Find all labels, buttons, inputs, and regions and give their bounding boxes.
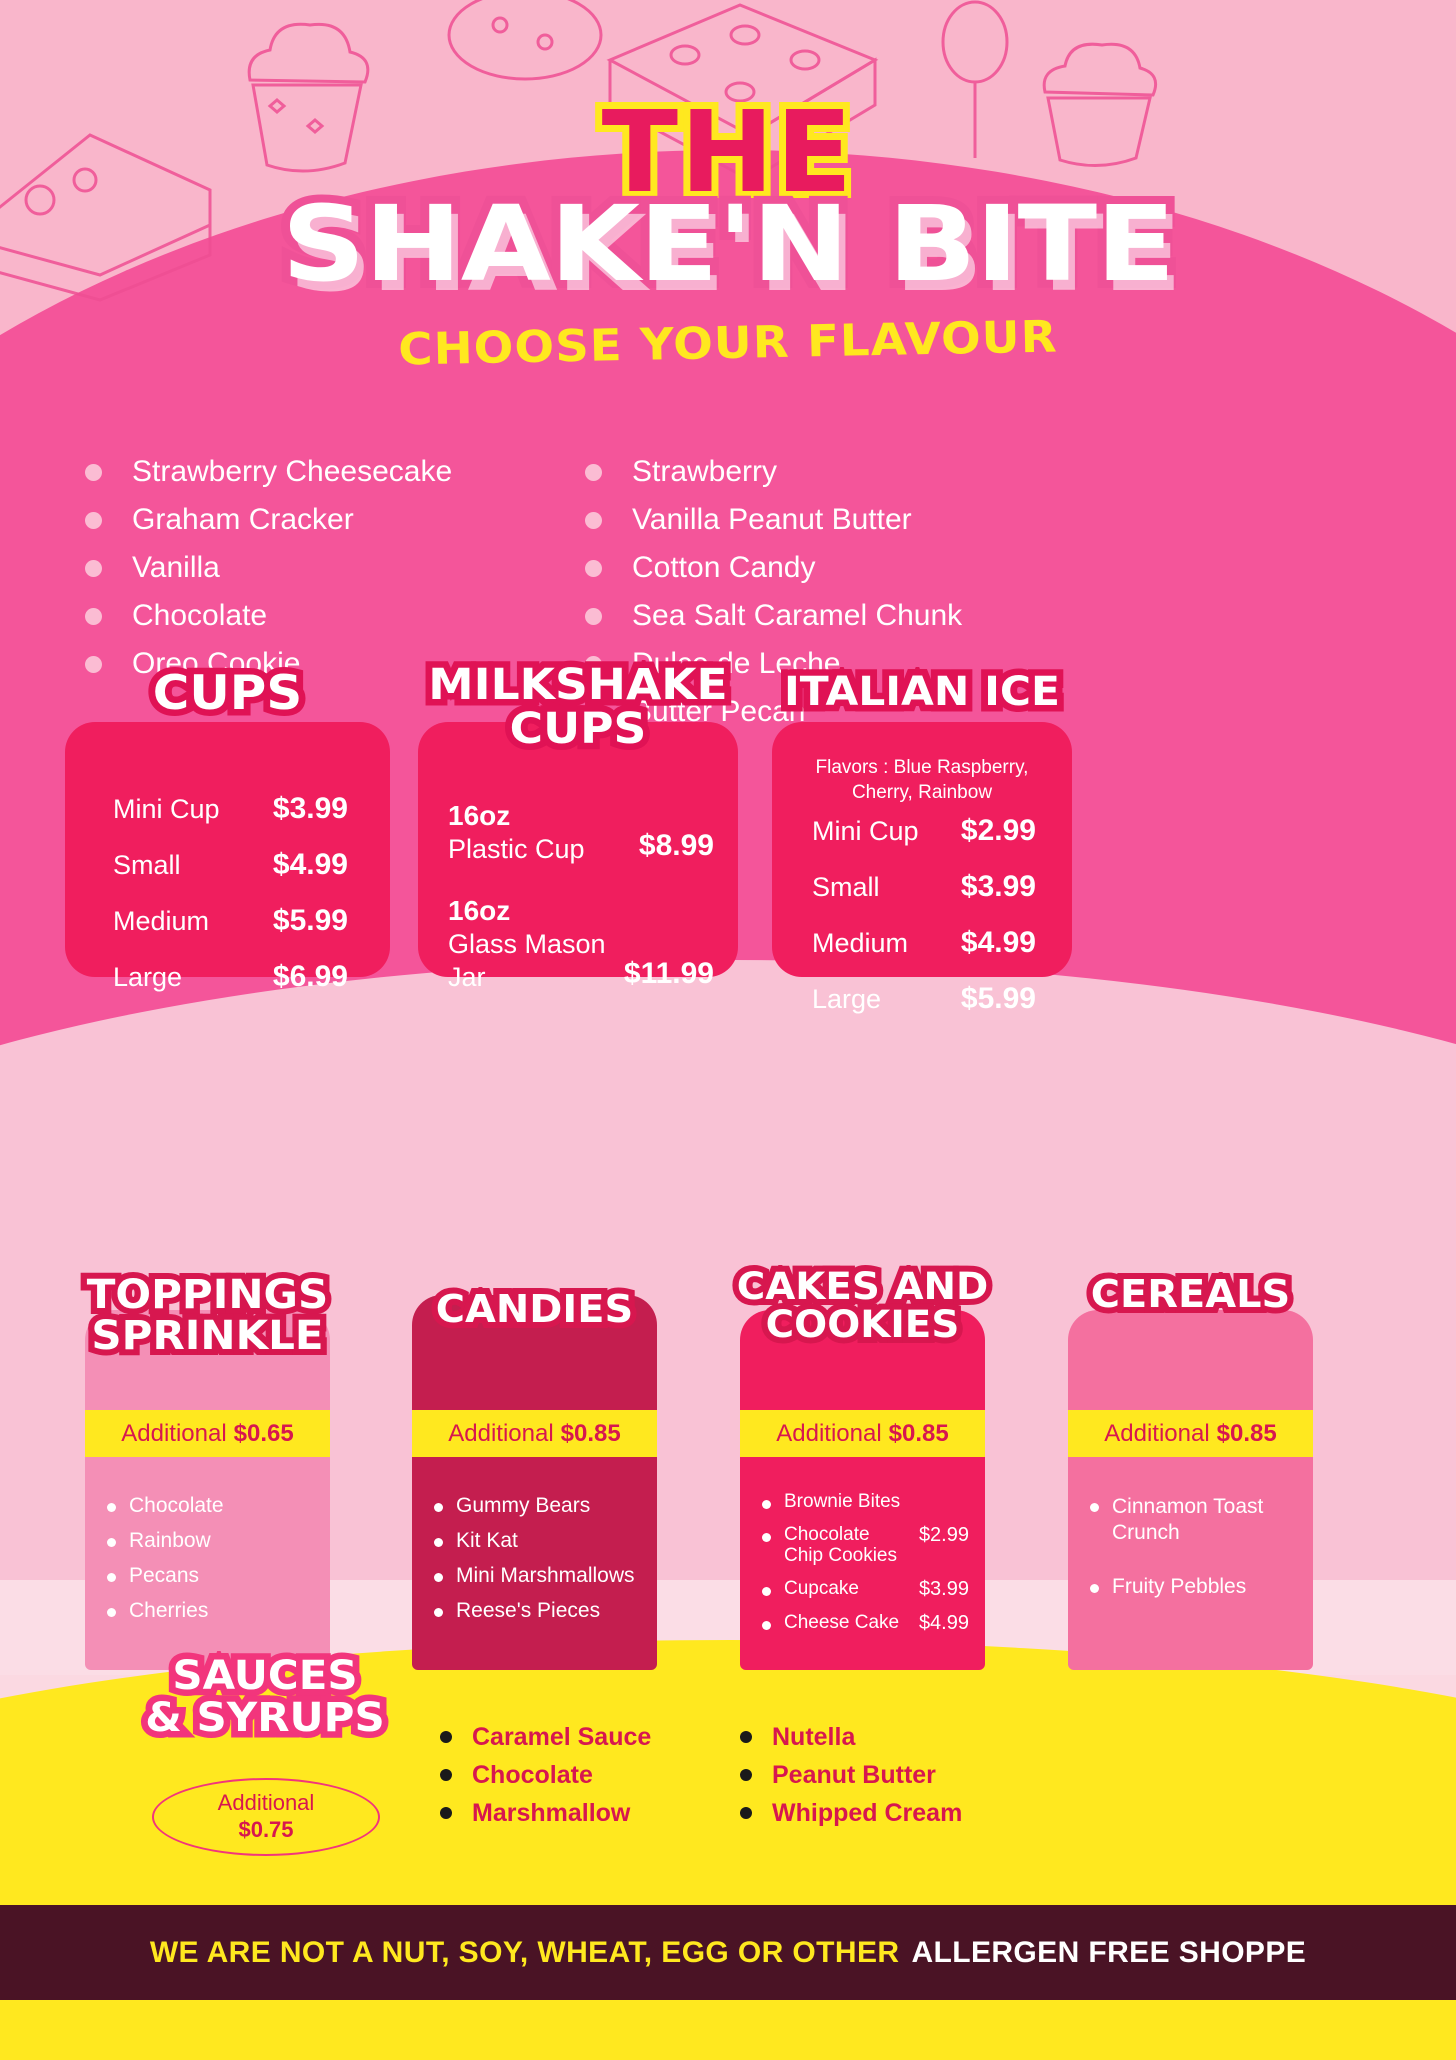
item-label: Cupcake — [784, 1578, 859, 1600]
cakes-list: Brownie Bites Chocolate Chip Cookies$2.9… — [740, 1465, 985, 1646]
bullet-icon — [585, 464, 602, 481]
sauce-label: Caramel Sauce — [472, 1723, 651, 1752]
list-item: Chocolate Chip Cookies$2.99 — [762, 1524, 969, 1567]
item-label: Reese's Pieces — [456, 1599, 600, 1623]
flavour-label: Graham Cracker — [132, 503, 354, 537]
price-value: $11.99 — [624, 957, 714, 993]
item-label: Chocolate — [129, 1494, 224, 1518]
bullet-icon — [740, 1807, 752, 1819]
additional-label: Additional — [776, 1420, 881, 1448]
price-row: Small$3.99 — [812, 870, 1036, 904]
size-label: Medium — [113, 906, 209, 937]
italian-ice-flavors-note: Flavors : Blue Raspberry, Cherry, Rainbo… — [786, 756, 1058, 805]
item-label: Chocolate Chip Cookies — [784, 1524, 904, 1567]
additional-price: $0.85 — [1217, 1420, 1277, 1448]
additional-price: $0.75 — [238, 1817, 293, 1844]
brand-title: SHAKE'N BITE — [0, 192, 1456, 296]
list-item: Mini Marshmallows — [434, 1564, 641, 1588]
bullet-icon — [762, 1621, 771, 1630]
cakes-cookies-card: Additional$0.85 Brownie Bites Chocolate … — [740, 1310, 985, 1670]
item-label: Gummy Bears — [456, 1494, 590, 1518]
item-label: Pecans — [129, 1564, 199, 1588]
additional-price: $0.85 — [561, 1420, 621, 1448]
bullet-icon — [1090, 1584, 1099, 1593]
list-item: Brownie Bites — [762, 1491, 969, 1513]
price-row: Medium$4.99 — [812, 926, 1036, 960]
price-row: Large$5.99 — [812, 982, 1036, 1016]
list-item: Kit Kat — [434, 1529, 641, 1553]
bullet-icon — [440, 1769, 452, 1781]
flavour-label: Cotton Candy — [632, 551, 815, 585]
size-label: 16oz — [448, 893, 624, 928]
item-label: Kit Kat — [456, 1529, 518, 1553]
bullet-icon — [85, 512, 102, 529]
item-label: Cheese Cake — [784, 1612, 899, 1634]
item-price: $2.99 — [911, 1524, 969, 1547]
allergen-text-secondary: ALLERGEN FREE SHOPPE — [911, 1936, 1306, 1970]
bullet-icon — [762, 1500, 771, 1509]
list-item: Cherries — [107, 1599, 314, 1623]
flavour-item: Chocolate — [85, 592, 555, 640]
price-value: $3.99 — [961, 870, 1036, 904]
italian-ice-card-title: ITALIAN ICE — [763, 672, 1081, 713]
sauces-lists: Caramel Sauce Chocolate Marshmallow Nute… — [440, 1718, 1040, 1832]
toppings-list: Chocolate Rainbow Pecans Cherries — [85, 1468, 330, 1634]
price-row: Mini Cup$3.99 — [113, 792, 348, 826]
sauces-title-line1: SAUCES — [144, 1655, 386, 1697]
price-value: $8.99 — [639, 829, 714, 865]
sauce-label: Chocolate — [472, 1761, 593, 1790]
bullet-icon — [585, 512, 602, 529]
candies-additional-band: Additional$0.85 — [412, 1410, 657, 1457]
item-price: $4.99 — [911, 1612, 969, 1635]
bullet-icon — [740, 1769, 752, 1781]
container-label: Plastic Cup — [448, 833, 585, 865]
price-value: $4.99 — [961, 926, 1036, 960]
price-row: 16oz Glass Mason Jar $11.99 — [448, 893, 714, 993]
flavour-label: Vanilla — [132, 551, 220, 585]
bullet-icon — [585, 560, 602, 577]
price-row: Medium$5.99 — [113, 904, 348, 938]
sauce-label: Peanut Butter — [772, 1761, 936, 1790]
price-row: Large$6.99 — [113, 960, 348, 994]
poster-header: THE SHAKE'N BITE CHOOSE YOUR FLAVOUR — [0, 0, 1456, 369]
item-label: Fruity Pebbles — [1112, 1575, 1246, 1599]
bullet-icon — [107, 1573, 116, 1582]
cereals-card: Additional$0.85 Cinnamon Toast Crunch Fr… — [1068, 1310, 1313, 1670]
sauce-label: Marshmallow — [472, 1799, 630, 1828]
additional-label: Additional — [1104, 1420, 1209, 1448]
cereals-card-title: CEREALS — [1043, 1275, 1338, 1314]
toppings-additional-band: Additional$0.65 — [85, 1410, 330, 1457]
price-value: $5.99 — [961, 982, 1036, 1016]
price-row: Mini Cup$2.99 — [812, 814, 1036, 848]
bullet-icon — [85, 464, 102, 481]
cereals-additional-band: Additional$0.85 — [1068, 1410, 1313, 1457]
italian-ice-price-card: ITALIAN ICE Flavors : Blue Raspberry, Ch… — [772, 722, 1072, 977]
candies-list: Gummy Bears Kit Kat Mini Marshmallows Re… — [412, 1468, 657, 1634]
bullet-icon — [762, 1587, 771, 1596]
flavour-label: Strawberry Cheesecake — [132, 455, 452, 489]
sauces-column-right: Nutella Peanut Butter Whipped Cream — [740, 1718, 1040, 1832]
item-label: Brownie Bites — [784, 1491, 900, 1513]
milkshake-desc: 16oz Glass Mason Jar — [448, 893, 624, 993]
milkshake-card-title: MILKSHAKE CUPS — [408, 664, 747, 752]
size-label: Small — [812, 872, 880, 903]
flavour-label: Chocolate — [132, 599, 267, 633]
bullet-icon — [434, 1538, 443, 1547]
flavour-item: Strawberry — [585, 448, 1025, 496]
bullet-icon — [762, 1533, 771, 1542]
list-item: Chocolate — [107, 1494, 314, 1518]
cereals-list: Cinnamon Toast Crunch Fruity Pebbles — [1068, 1468, 1313, 1610]
flavour-item: Vanilla Peanut Butter — [585, 496, 1025, 544]
toppings-card: Additional$0.65 Chocolate Rainbow Pecans… — [85, 1310, 330, 1670]
sauce-item: Whipped Cream — [740, 1794, 1040, 1832]
size-label: Large — [812, 984, 881, 1015]
price-value: $3.99 — [273, 792, 348, 826]
bullet-icon — [107, 1538, 116, 1547]
candies-card-title: CANDIES — [387, 1290, 682, 1329]
additional-label: Additional — [121, 1420, 226, 1448]
milkshake-price-card: MILKSHAKE CUPS 16oz Plastic Cup $8.99 16… — [418, 722, 738, 977]
item-label: Mini Marshmallows — [456, 1564, 635, 1588]
bullet-icon — [1090, 1503, 1099, 1512]
sauces-title-line2: & SYRUPS — [144, 1697, 386, 1739]
list-item: Pecans — [107, 1564, 314, 1588]
sauces-column-left: Caramel Sauce Chocolate Marshmallow — [440, 1718, 740, 1832]
flavour-label: Sea Salt Caramel Chunk — [632, 599, 962, 633]
price-value: $2.99 — [961, 814, 1036, 848]
price-row: Small$4.99 — [113, 848, 348, 882]
bullet-icon — [85, 560, 102, 577]
milkshake-rows: 16oz Plastic Cup $8.99 16oz Glass Mason … — [448, 798, 714, 1021]
sauce-item: Caramel Sauce — [440, 1718, 740, 1756]
allergen-text-primary: WE ARE NOT A NUT, SOY, WHEAT, EGG OR OTH… — [150, 1936, 900, 1970]
bullet-icon — [434, 1503, 443, 1512]
sauce-item: Marshmallow — [440, 1794, 740, 1832]
flavour-item: Sea Salt Caramel Chunk — [585, 592, 1025, 640]
additional-price: $0.65 — [234, 1420, 294, 1448]
flavour-label: Vanilla Peanut Butter — [632, 503, 912, 537]
container-label: Glass Mason Jar — [448, 928, 624, 993]
flavour-label: Strawberry — [632, 455, 777, 489]
additional-label: Additional — [218, 1790, 315, 1817]
flavour-item: Cotton Candy — [585, 544, 1025, 592]
flavour-item: Graham Cracker — [85, 496, 555, 544]
sauce-label: Whipped Cream — [772, 1799, 962, 1828]
size-label: Mini Cup — [113, 794, 220, 825]
size-label: Mini Cup — [812, 816, 919, 847]
list-item: Cinnamon Toast Crunch — [1090, 1494, 1297, 1547]
item-label: Cherries — [129, 1599, 208, 1623]
cakes-cookies-card-title: CAKES AND COOKIES — [715, 1268, 1010, 1343]
list-item: Cupcake$3.99 — [762, 1578, 969, 1601]
bullet-icon — [440, 1807, 452, 1819]
flavour-item: Strawberry Cheesecake — [85, 448, 555, 496]
bullet-icon — [585, 608, 602, 625]
list-item: Gummy Bears — [434, 1494, 641, 1518]
list-item: Reese's Pieces — [434, 1599, 641, 1623]
bullet-icon — [107, 1503, 116, 1512]
flavour-item: Vanilla — [85, 544, 555, 592]
price-value: $4.99 — [273, 848, 348, 882]
size-label: Small — [113, 850, 181, 881]
toppings-card-title: TOPPINGS SPRINKLE — [60, 1275, 355, 1357]
milkshake-desc: 16oz Plastic Cup — [448, 798, 585, 865]
list-item: Cheese Cake$4.99 — [762, 1612, 969, 1635]
list-item: Fruity Pebbles — [1090, 1575, 1297, 1599]
item-price: $3.99 — [911, 1578, 969, 1601]
sauce-item: Chocolate — [440, 1756, 740, 1794]
item-label: Rainbow — [129, 1529, 211, 1553]
sauce-item: Peanut Butter — [740, 1756, 1040, 1794]
item-label: Cinnamon Toast Crunch — [1112, 1494, 1297, 1547]
sauces-title: SAUCES & SYRUPS — [144, 1655, 386, 1739]
italian-ice-rows: Mini Cup$2.99 Small$3.99 Medium$4.99 Lar… — [812, 814, 1036, 1038]
cups-rows: Mini Cup$3.99 Small$4.99 Medium$5.99 Lar… — [113, 792, 348, 1016]
bullet-icon — [440, 1731, 452, 1743]
price-value: $5.99 — [273, 904, 348, 938]
bullet-icon — [85, 608, 102, 625]
additional-label: Additional — [448, 1420, 553, 1448]
size-label: Large — [113, 962, 182, 993]
price-value: $6.99 — [273, 960, 348, 994]
sauces-additional-badge: Additional $0.75 — [152, 1778, 380, 1856]
allergen-footer: WE ARE NOT A NUT, SOY, WHEAT, EGG OR OTH… — [0, 1905, 1456, 2000]
additional-price: $0.85 — [889, 1420, 949, 1448]
candies-card: Additional$0.85 Gummy Bears Kit Kat Mini… — [412, 1295, 657, 1670]
bullet-icon — [740, 1731, 752, 1743]
bullet-icon — [434, 1573, 443, 1582]
size-label: 16oz — [448, 798, 585, 833]
bullet-icon — [107, 1608, 116, 1617]
list-item: Rainbow — [107, 1529, 314, 1553]
size-label: Medium — [812, 928, 908, 959]
cups-card-title: CUPS — [55, 670, 400, 718]
price-row: 16oz Plastic Cup $8.99 — [448, 798, 714, 865]
bullet-icon — [434, 1608, 443, 1617]
cakes-additional-band: Additional$0.85 — [740, 1410, 985, 1457]
cups-price-card: CUPS Mini Cup$3.99 Small$4.99 Medium$5.9… — [65, 722, 390, 977]
sauce-label: Nutella — [772, 1723, 855, 1752]
sauce-item: Nutella — [740, 1718, 1040, 1756]
